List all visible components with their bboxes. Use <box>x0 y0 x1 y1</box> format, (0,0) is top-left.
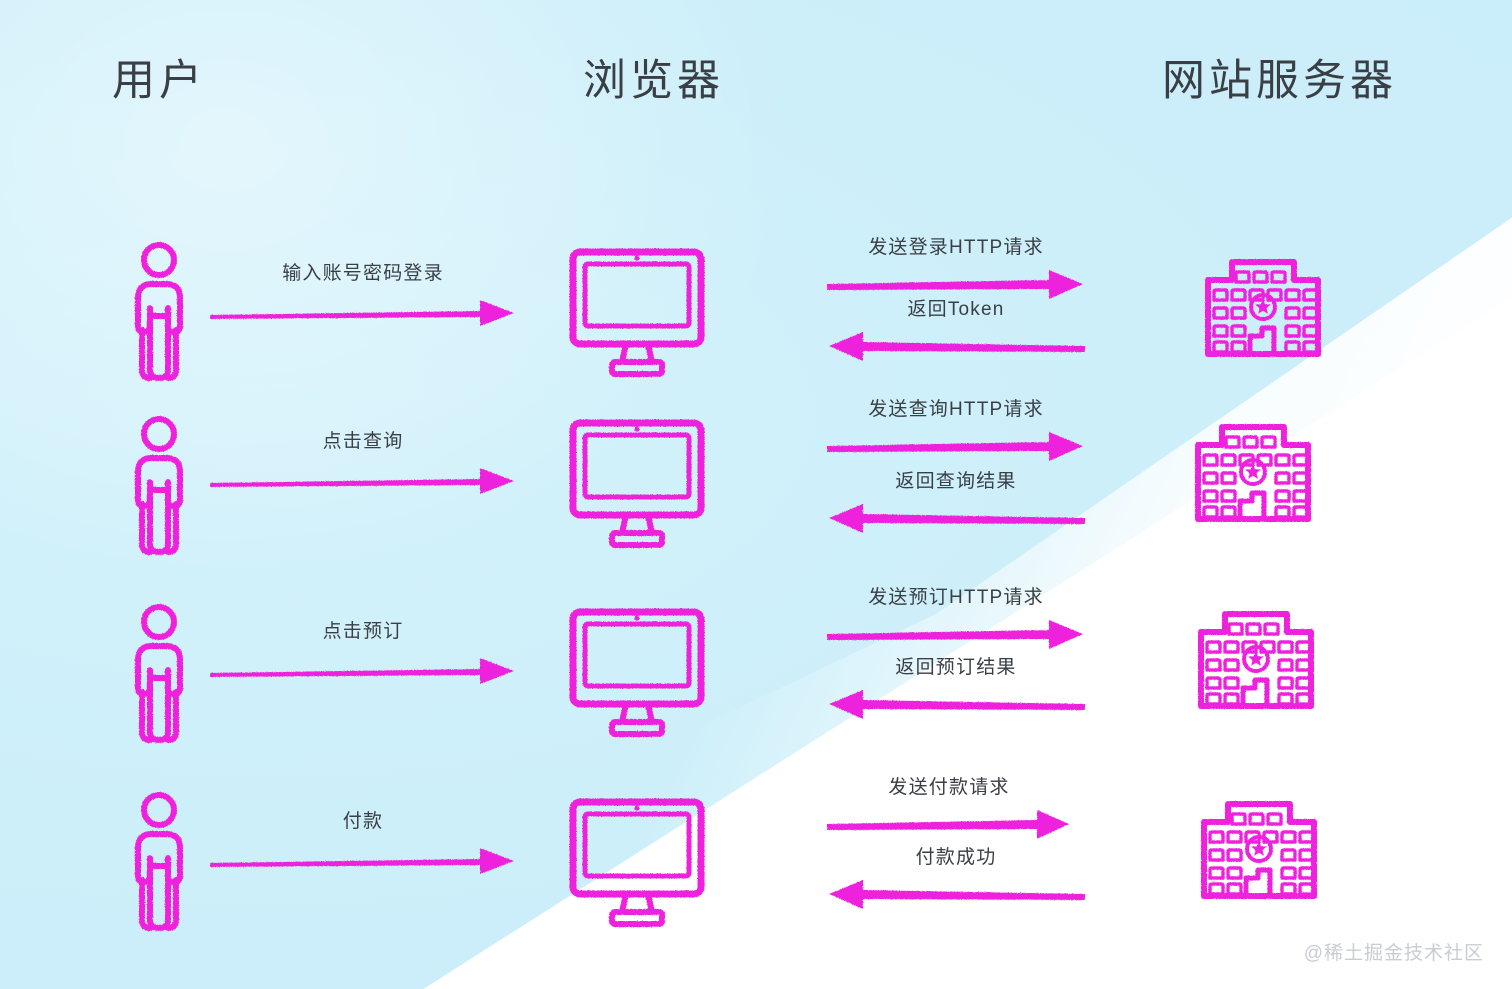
diagram-canvas: 用户 浏览器 网站服务器 输入账号密码登录 发送登录HTTP请求 返回Token <box>0 0 1512 989</box>
monitor-icon-row-4 <box>568 797 706 929</box>
message-label: 返回Token <box>825 300 1087 319</box>
arrow-right-icon <box>208 844 518 878</box>
arrow-right-icon <box>825 430 1087 464</box>
message-label: 付款成功 <box>825 848 1087 867</box>
arrow-left-icon <box>825 330 1087 364</box>
person-icon-row-1 <box>128 238 190 388</box>
message-label: 发送付款请求 <box>825 778 1073 797</box>
monitor-icon-row-2 <box>568 418 706 550</box>
message-label: 返回查询结果 <box>825 472 1087 491</box>
arrow-right-icon <box>825 618 1087 652</box>
arrow-right-icon <box>208 296 518 330</box>
building-icon-row-4 <box>1196 792 1327 904</box>
message-label: 发送查询HTTP请求 <box>825 400 1087 419</box>
message-label: 输入账号密码登录 <box>208 264 518 283</box>
message-label: 返回预订结果 <box>825 658 1087 677</box>
building-icon-row-3 <box>1193 602 1324 714</box>
person-icon-row-2 <box>128 412 190 562</box>
arrow-right-icon <box>208 464 518 498</box>
monitor-icon-row-3 <box>568 607 706 739</box>
arrow-left-icon <box>825 688 1087 722</box>
arrow-right-icon <box>208 654 518 688</box>
person-icon-row-4 <box>128 788 190 938</box>
message-label: 发送预订HTTP请求 <box>825 588 1087 607</box>
message-label: 点击预订 <box>208 622 518 641</box>
message-label: 点击查询 <box>208 432 518 451</box>
message-label: 付款 <box>208 812 518 831</box>
column-title-browser: 浏览器 <box>583 60 724 103</box>
watermark: @稀土掘金技术社区 <box>1304 938 1484 965</box>
building-icon-row-2 <box>1190 415 1321 527</box>
message-label: 发送登录HTTP请求 <box>825 238 1087 257</box>
column-title-user: 用户 <box>112 60 206 103</box>
building-icon-row-1 <box>1200 250 1331 362</box>
column-title-server: 网站服务器 <box>1162 60 1397 103</box>
arrow-left-icon <box>825 502 1087 536</box>
person-icon-row-3 <box>128 600 190 750</box>
monitor-icon-row-1 <box>568 247 706 379</box>
arrow-left-icon <box>825 878 1087 912</box>
arrow-right-icon <box>825 268 1087 302</box>
arrow-right-icon <box>825 808 1073 842</box>
